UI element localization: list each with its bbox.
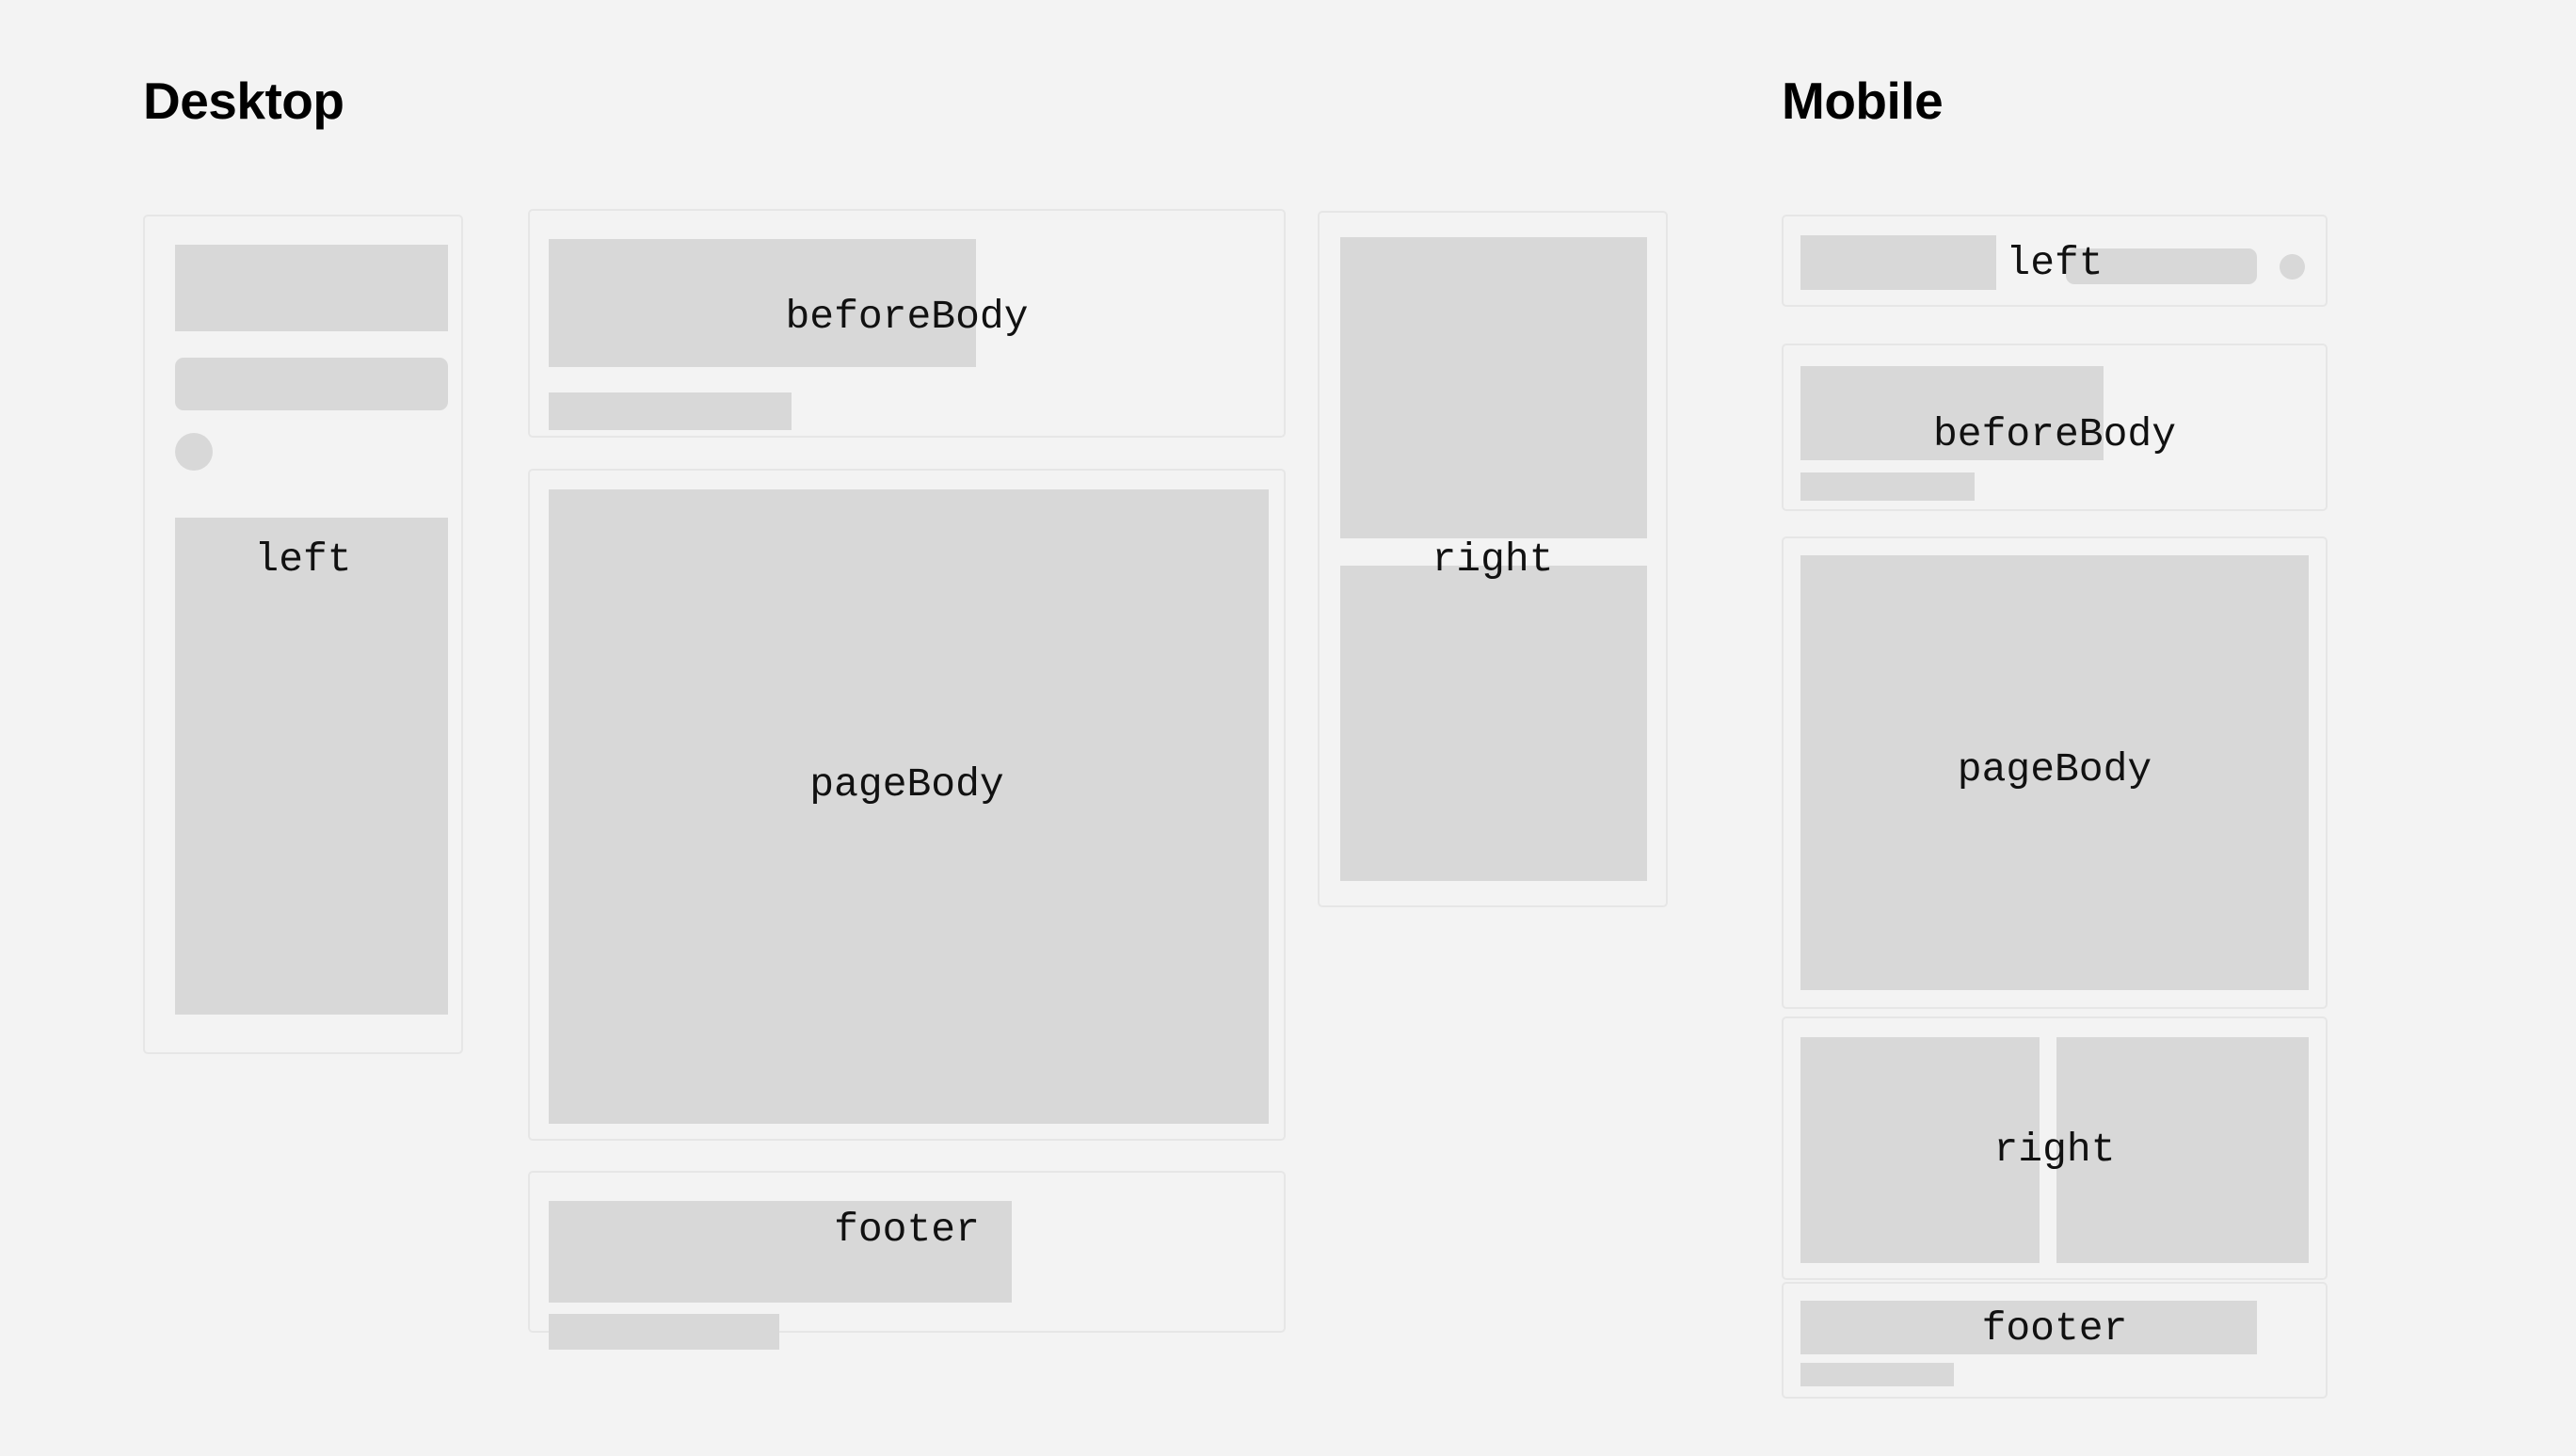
widget-block-right [2056,1037,2309,1263]
content-block [549,489,1269,1124]
caption-block [549,392,792,430]
nav-block [175,518,448,1015]
widget-block-bottom [1340,566,1647,881]
caption-block [1800,472,1975,501]
mobile-section-title: Mobile [1782,75,1943,127]
desktop-left-panel[interactable] [143,215,463,1054]
desktop-page-body-panel[interactable] [528,469,1286,1141]
search-bar-block [175,358,448,410]
search-pill-block [2066,248,2257,284]
mobile-footer-panel[interactable] [1782,1282,2328,1399]
desktop-right-panel[interactable] [1318,211,1668,907]
banner-block [1800,366,2104,460]
footer-bar-block [1800,1301,2257,1354]
avatar-circle [175,433,213,471]
desktop-section-title: Desktop [143,75,344,127]
mobile-left-panel[interactable] [1782,215,2328,307]
desktop-footer-panel[interactable] [528,1171,1286,1333]
mobile-before-body-panel[interactable] [1782,344,2328,511]
avatar-circle [2280,254,2305,280]
header-block [175,245,448,331]
footer-bar-block [549,1201,1012,1303]
banner-block [549,239,976,367]
mobile-right-panel[interactable] [1782,1016,2328,1280]
footer-caption-block [549,1314,779,1350]
mobile-page-body-panel[interactable] [1782,536,2328,1009]
widget-block-top [1340,237,1647,538]
widget-block-left [1800,1037,2040,1263]
wireframe-canvas: Desktop left beforeBody pageBody right f… [0,0,2576,1456]
footer-caption-block [1800,1363,1954,1386]
desktop-before-body-panel[interactable] [528,209,1286,438]
content-block [1800,555,2309,990]
logo-block [1800,235,1996,290]
